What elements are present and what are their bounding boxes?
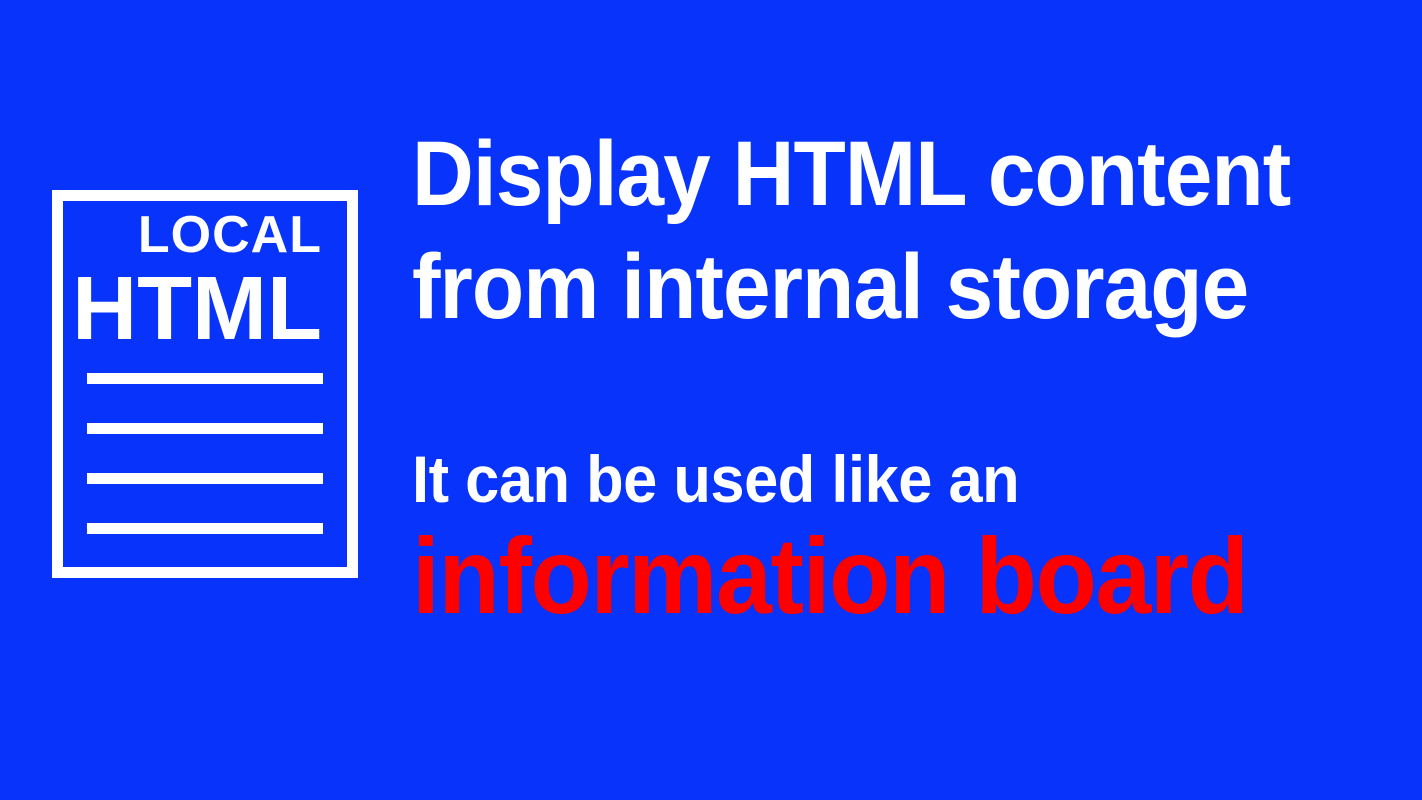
document-icon-line (87, 423, 323, 434)
text-column: Display HTML content from internal stora… (412, 0, 1392, 800)
local-html-document-icon: LOCAL HTML (52, 190, 358, 578)
emphasis-line-1: information board (412, 517, 1323, 635)
subtext-line-1: It can be used like an (412, 443, 1323, 515)
headline-line-1: Display HTML content (412, 118, 1323, 231)
document-icon-text-lines (87, 373, 323, 534)
document-icon-label-local: LOCAL (63, 207, 322, 263)
document-icon-inner: LOCAL HTML (63, 201, 347, 567)
document-icon-line (87, 473, 323, 484)
document-icon-label-html: HTML (63, 263, 322, 355)
slide-canvas: LOCAL HTML Display HTML content from int… (0, 0, 1422, 800)
document-icon-line (87, 523, 323, 534)
headline: Display HTML content from internal stora… (412, 118, 1323, 344)
headline-line-2: from internal storage (412, 231, 1323, 344)
subtext-block: It can be used like an information board (412, 443, 1392, 635)
document-icon-line (87, 373, 323, 384)
